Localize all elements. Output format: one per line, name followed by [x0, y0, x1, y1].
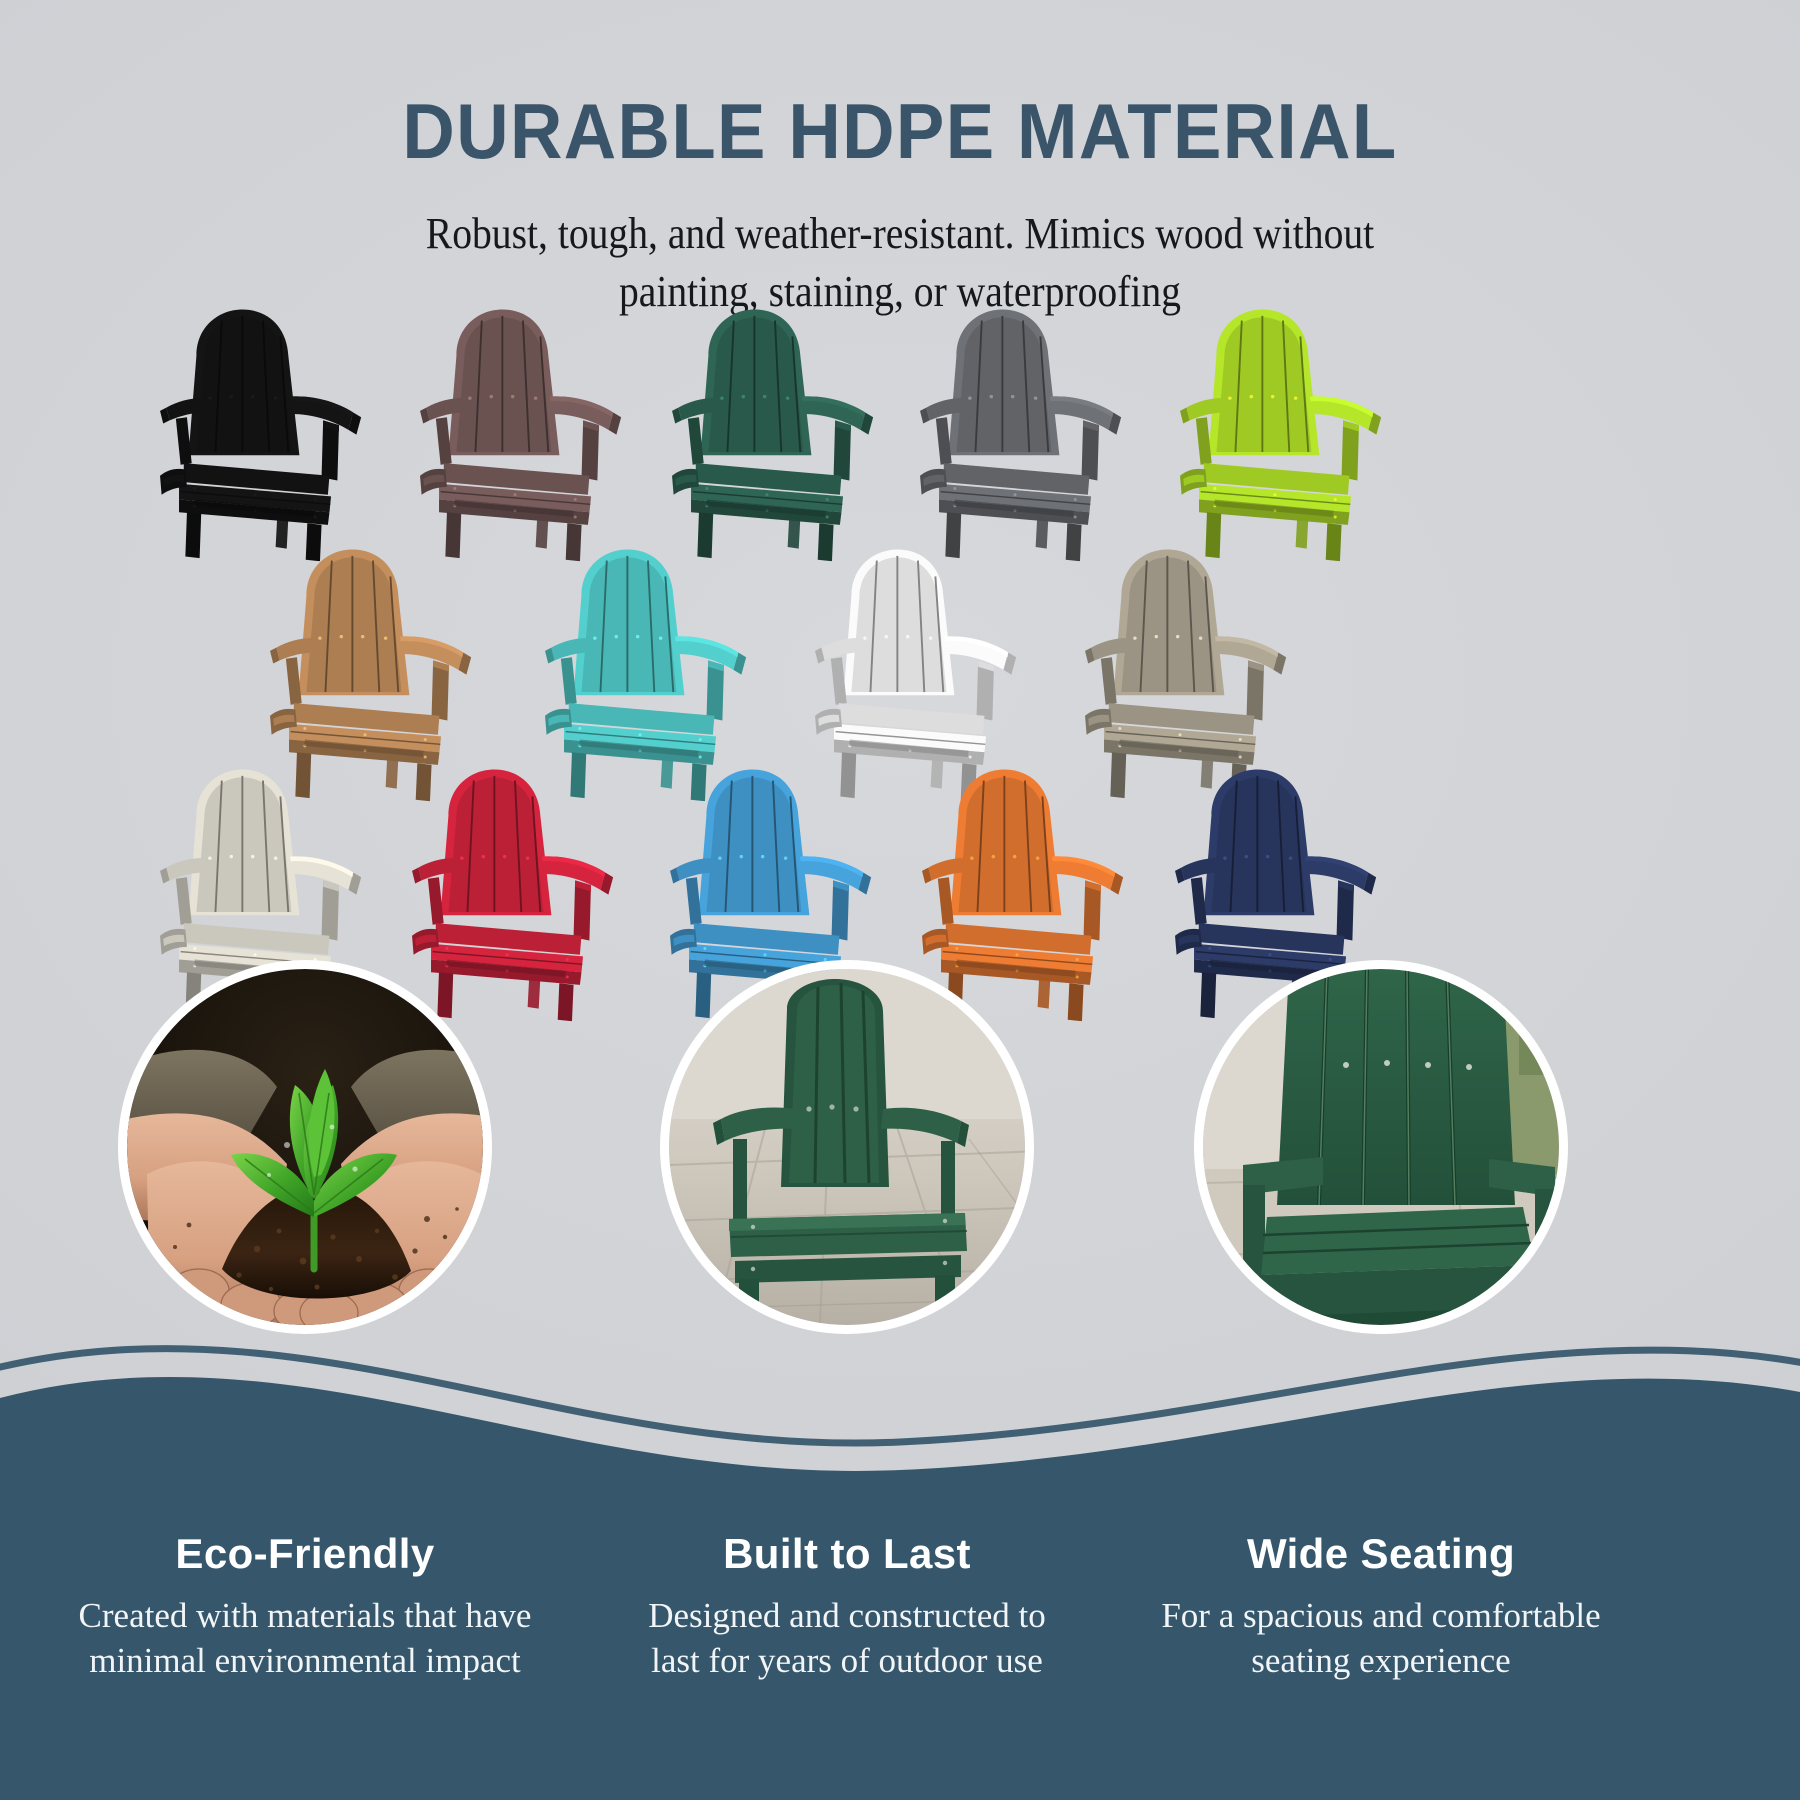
- feature-body-line-2: seating experience: [1101, 1639, 1661, 1684]
- feature-body-line-1: Created with materials that have: [25, 1594, 585, 1639]
- feature-heading: Eco-Friendly: [25, 1530, 585, 1578]
- feature-text-built-to-last: Built to Last Designed and constructed t…: [567, 1530, 1127, 1684]
- feature-heading: Wide Seating: [1101, 1530, 1661, 1578]
- green-chair-seat-closeup-photo: [1203, 969, 1559, 1325]
- page-title: DURABLE HDPE MATERIAL: [63, 92, 1737, 170]
- hands-holding-seedling-photo: [127, 969, 483, 1325]
- feature-image-wide-seating: [1194, 960, 1568, 1334]
- chair-orange[interactable]: [922, 760, 1125, 1021]
- feature-body-line-1: Designed and constructed to: [567, 1594, 1127, 1639]
- green-chair-on-patio-photo: [669, 969, 1025, 1325]
- feature-body-line-2: last for years of outdoor use: [567, 1639, 1127, 1684]
- feature-text-wide-seating: Wide Seating For a spacious and comforta…: [1101, 1530, 1661, 1684]
- chair-gray[interactable]: [920, 300, 1123, 561]
- subtitle-line-1: Robust, tough, and weather-resistant. Mi…: [360, 205, 1440, 263]
- feature-body: Created with materials that have minimal…: [25, 1594, 585, 1684]
- feature-image-built-to-last: [660, 960, 1034, 1334]
- feature-body: For a spacious and comfortable seating e…: [1101, 1594, 1661, 1684]
- feature-body-line-2: minimal environmental impact: [25, 1639, 585, 1684]
- feature-text-eco-friendly: Eco-Friendly Created with materials that…: [25, 1530, 585, 1684]
- feature-body: Designed and constructed to last for yea…: [567, 1594, 1127, 1684]
- chair-dark-green[interactable]: [672, 300, 875, 561]
- feature-body-line-1: For a spacious and comfortable: [1101, 1594, 1661, 1639]
- chair-dark-brown[interactable]: [420, 300, 623, 561]
- chair-lime-green[interactable]: [1180, 300, 1383, 561]
- chair-black[interactable]: [160, 300, 363, 561]
- infographic-canvas: DURABLE HDPE MATERIAL Robust, tough, and…: [0, 0, 1800, 1800]
- chair-red[interactable]: [412, 760, 615, 1021]
- feature-heading: Built to Last: [567, 1530, 1127, 1578]
- feature-image-eco-friendly: [118, 960, 492, 1334]
